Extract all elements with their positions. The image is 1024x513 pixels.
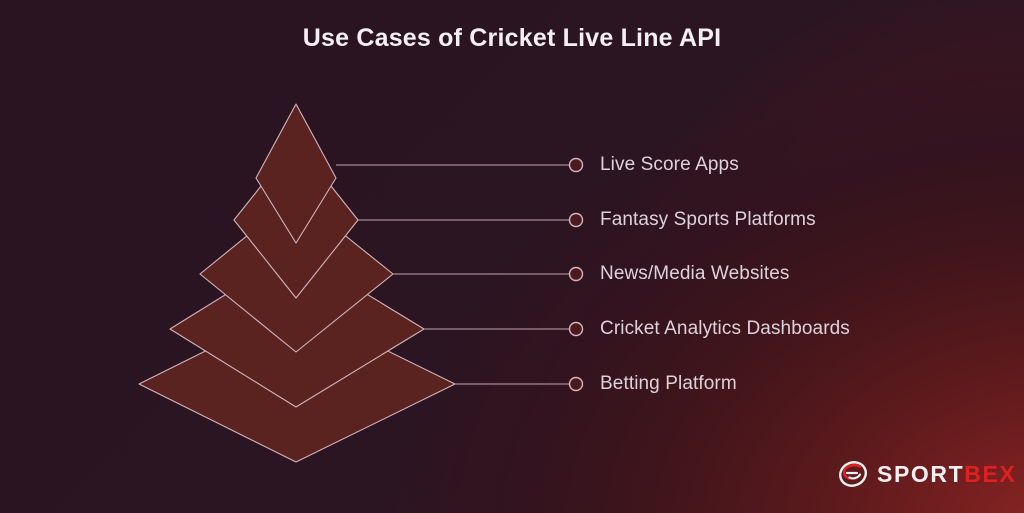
ring-marker-1[interactable] bbox=[570, 159, 583, 172]
brand-logo[interactable]: SPORTBEX bbox=[838, 460, 1016, 488]
level-label-5: Betting Platform bbox=[600, 373, 737, 395]
ring-marker-2[interactable] bbox=[570, 214, 583, 227]
level-label-2: Fantasy Sports Platforms bbox=[600, 209, 816, 231]
pyramid-diagram bbox=[0, 0, 1024, 513]
sportbex-swoosh-icon bbox=[838, 460, 868, 488]
ring-marker-5[interactable] bbox=[570, 378, 583, 391]
level-label-3: News/Media Websites bbox=[600, 263, 790, 285]
infographic-canvas: Use Cases of Cricket Live Line API Live … bbox=[0, 0, 1024, 513]
ring-marker-4[interactable] bbox=[570, 323, 583, 336]
level-label-1: Live Score Apps bbox=[600, 154, 739, 176]
ring-marker-3[interactable] bbox=[570, 268, 583, 281]
logo-text-accent: BEX bbox=[964, 461, 1016, 487]
level-label-4: Cricket Analytics Dashboards bbox=[600, 318, 850, 340]
logo-text-primary: SPORT bbox=[877, 461, 964, 487]
logo-wordmark: SPORTBEX bbox=[877, 461, 1016, 488]
